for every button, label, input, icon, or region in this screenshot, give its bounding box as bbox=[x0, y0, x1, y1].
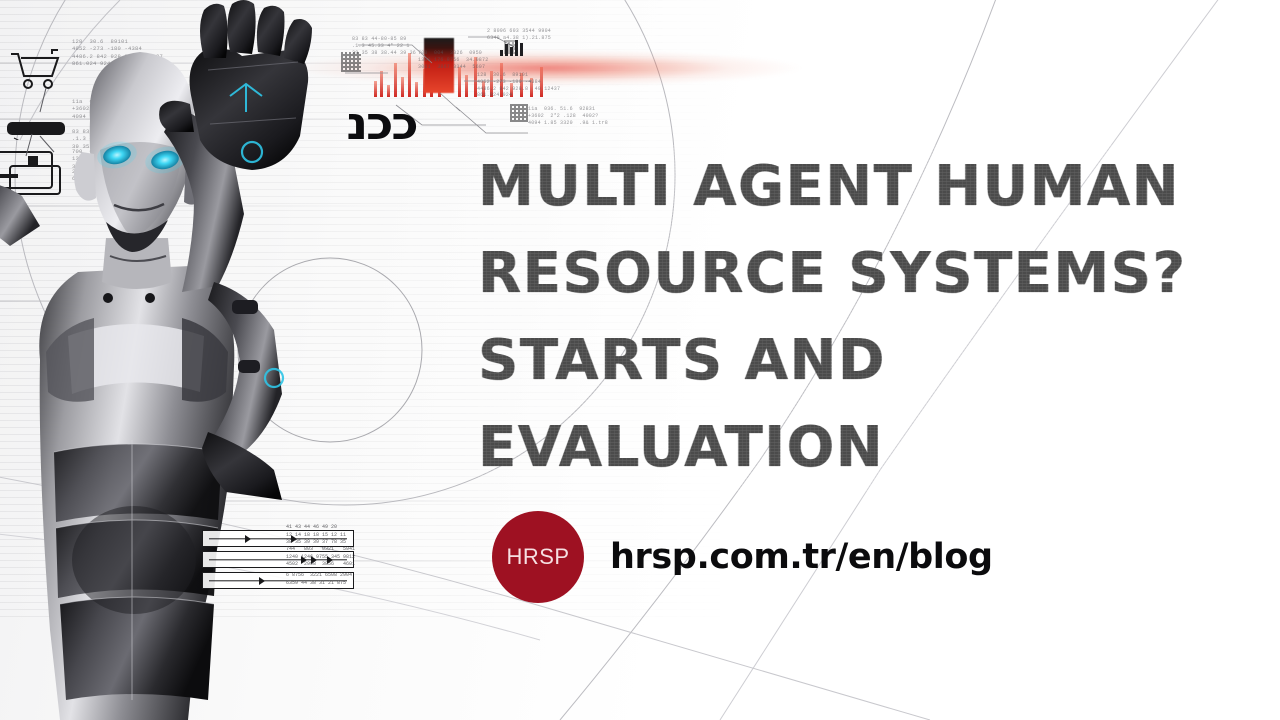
headline-line-4: EVALUATION bbox=[478, 404, 1238, 491]
humanoid-robot-illustration bbox=[0, 0, 382, 720]
website-url[interactable]: hrsp.com.tr/en/blog bbox=[610, 537, 993, 577]
headline-line-3: STARTS AND bbox=[478, 317, 1238, 404]
headline-line-1: MULTI AGENT HUMAN bbox=[478, 143, 1238, 230]
footer-branding: HRSP hrsp.com.tr/en/blog bbox=[492, 511, 993, 603]
hrsp-logo-badge[interactable]: HRSP bbox=[492, 511, 584, 603]
bar-chart-icon bbox=[500, 38, 523, 56]
microtext-block: 128 30.6 89101 4052 -273 -180 -4384 4486… bbox=[477, 72, 560, 99]
data-numbers: 41 43 44 46 49 20 12 14 18 18 15 12 11 3… bbox=[286, 524, 346, 547]
data-numbers: 6 8756 3221 6508 2904 6359 44 38 31 21 8… bbox=[286, 572, 352, 587]
microtext-block: 11a 036. 51.6 92831 +3602 2*2 .128 4002?… bbox=[528, 106, 608, 126]
microtext-block: 700 004 3326 0950 1388 176.8756 34.0872 … bbox=[418, 50, 488, 70]
qr-code-icon bbox=[510, 104, 528, 122]
data-numbers: 744 803 0321 5941 1240 1246 9755 345 981… bbox=[286, 546, 355, 569]
hrsp-logo-text: HRSP bbox=[506, 544, 569, 570]
promo-banner: 83 83 44-80-85 89 .1.3 45.33 4* 22 1 39 … bbox=[0, 0, 1280, 720]
headline-line-2: RESOURCE SYSTEMS? bbox=[478, 230, 1238, 317]
headline: MULTI AGENT HUMAN RESOURCE SYSTEMS? STAR… bbox=[478, 143, 1238, 491]
